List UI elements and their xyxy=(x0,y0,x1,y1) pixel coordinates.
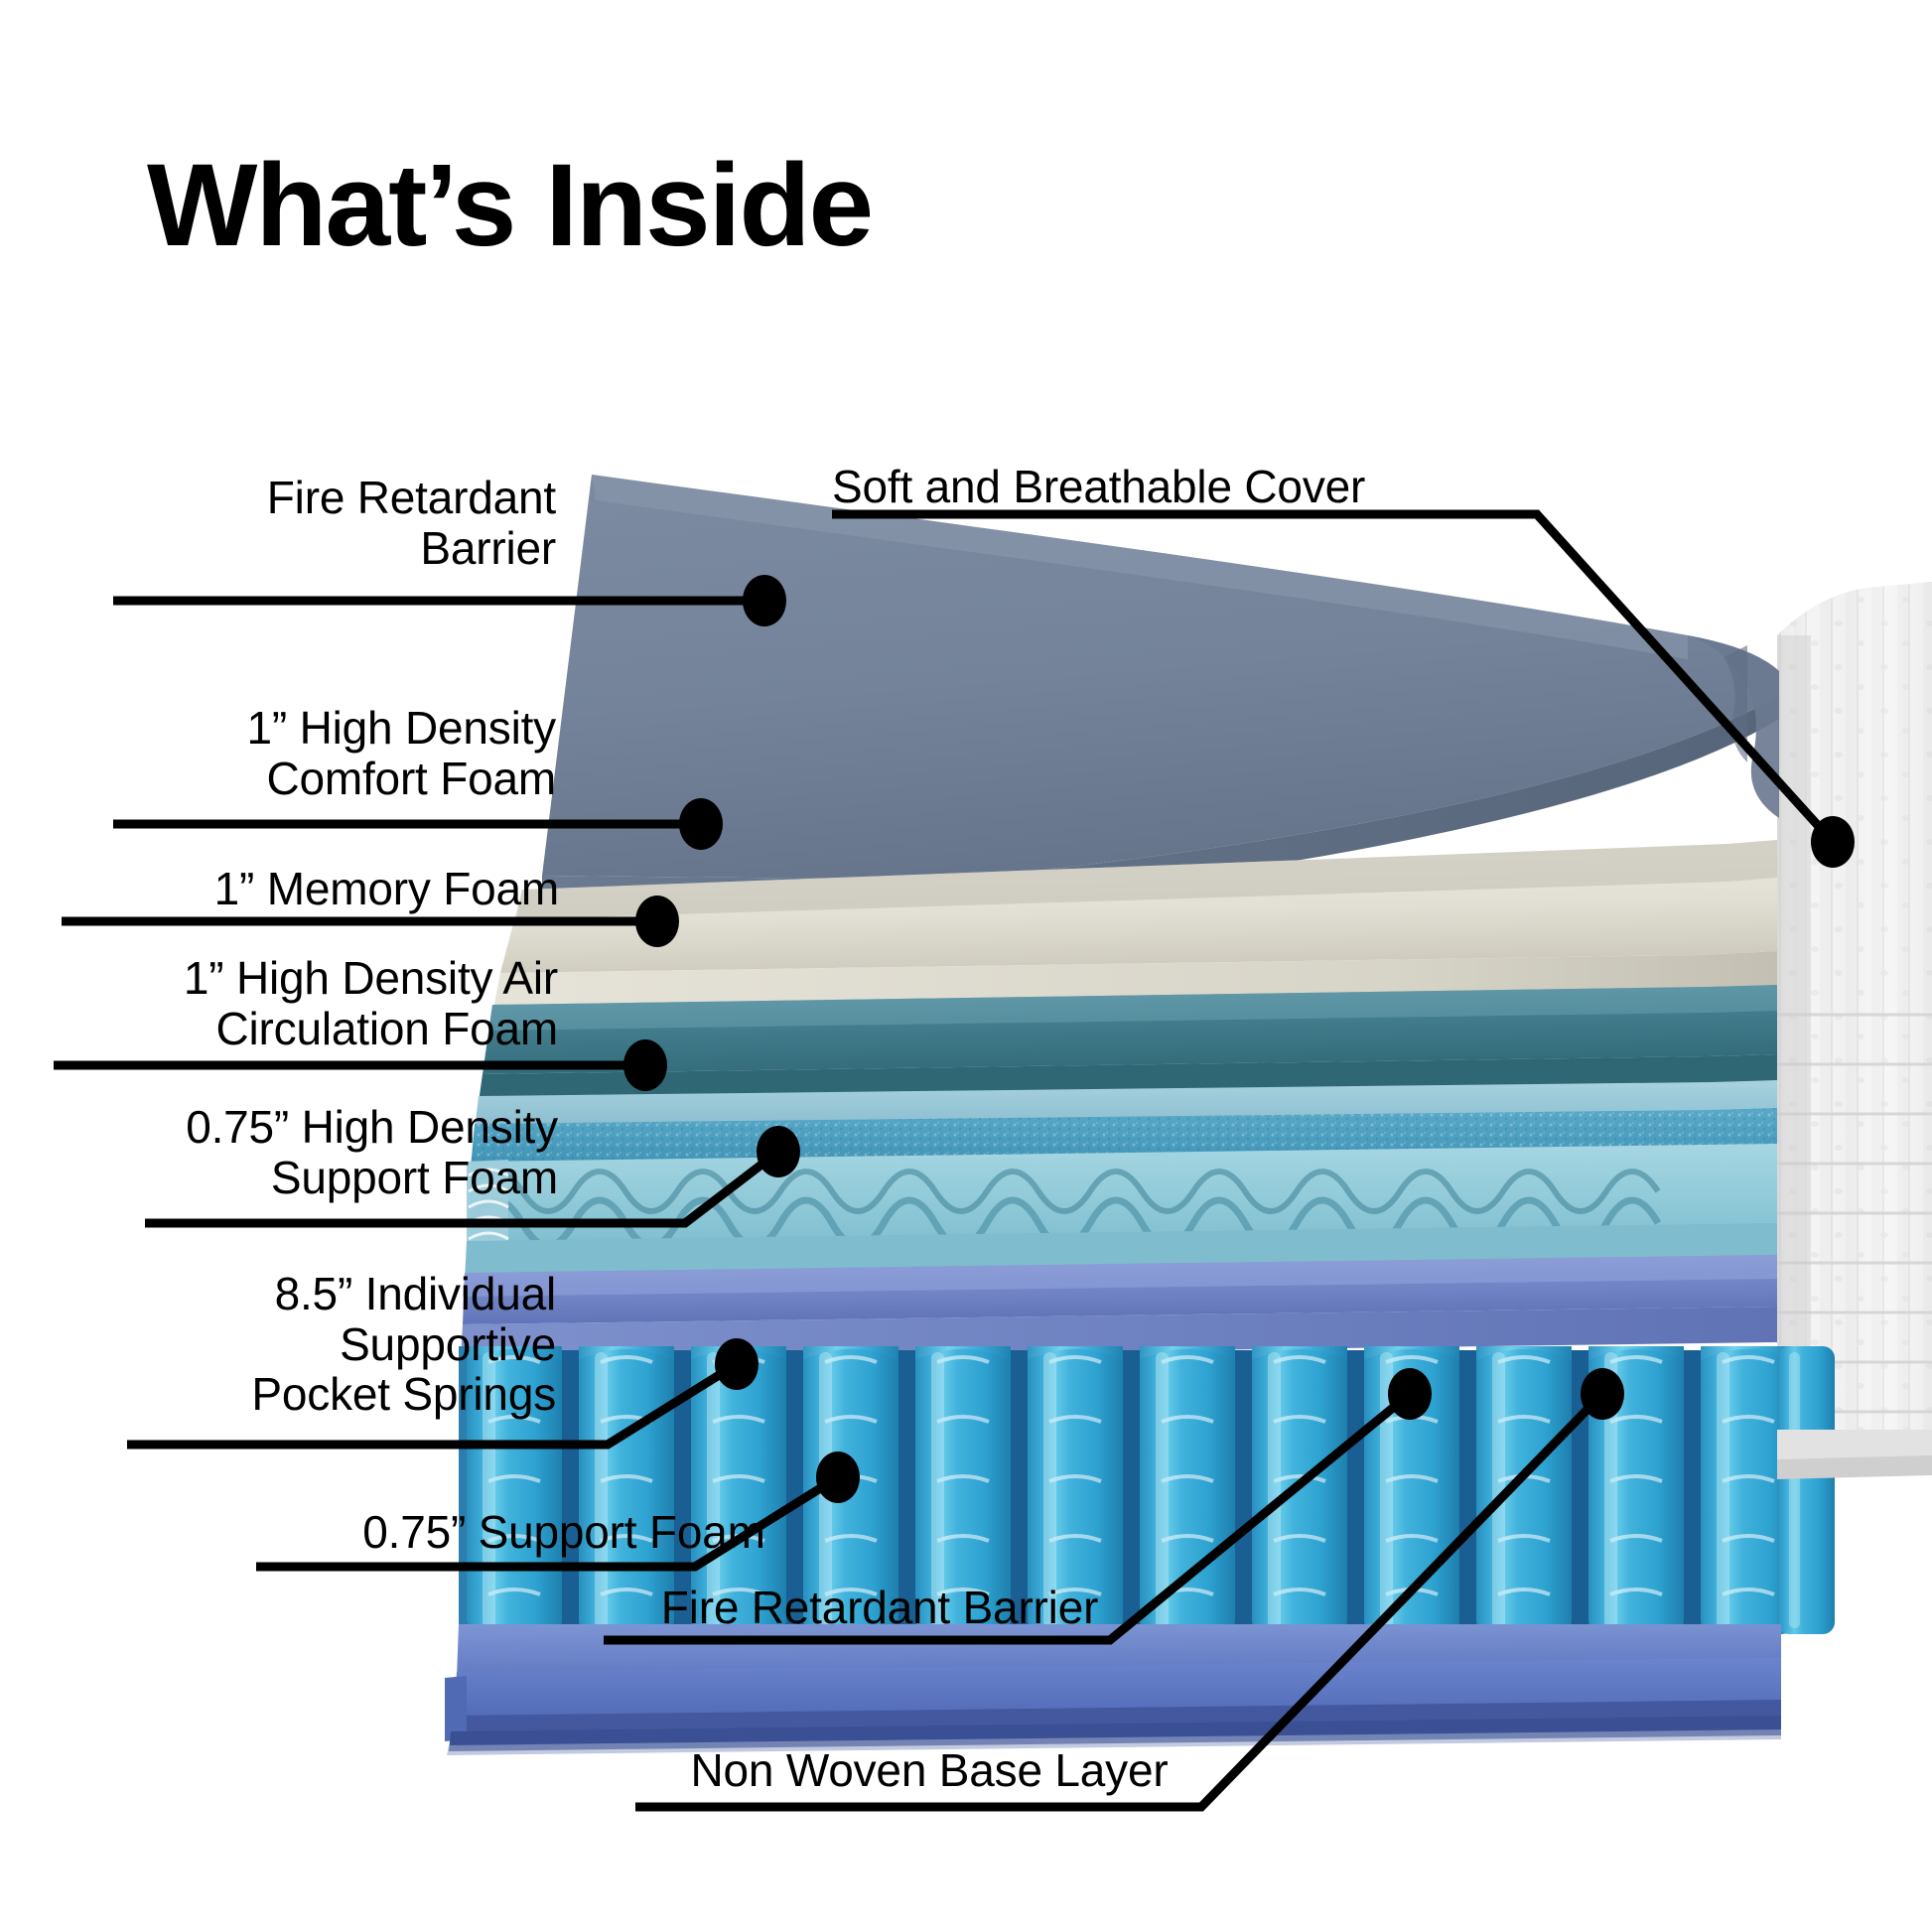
callout-fire-retardant-barrier-top[interactable]: Fire Retardant Barrier xyxy=(109,473,556,573)
callout-label-individual-pocket-springs: 8.5” Individual Supportive Pocket Spring… xyxy=(109,1269,556,1420)
callout-soft-and-breathable-cover[interactable]: Soft and Breathable Cover xyxy=(832,462,1527,512)
callout-individual-pocket-springs[interactable]: 8.5” Individual Supportive Pocket Spring… xyxy=(109,1269,556,1420)
callout-memory-foam[interactable]: 1” Memory Foam xyxy=(107,864,559,914)
callout-air-circulation-foam[interactable]: 1” High Density Air Circulation Foam xyxy=(71,953,558,1053)
callout-label-high-density-comfort-foam: 1” High Density Comfort Foam xyxy=(109,703,556,803)
callout-label-fire-retardant-barrier-top: Fire Retardant Barrier xyxy=(109,473,556,573)
callout-label-soft-and-breathable-cover: Soft and Breathable Cover xyxy=(832,462,1527,512)
callout-high-density-comfort-foam[interactable]: 1” High Density Comfort Foam xyxy=(109,703,556,803)
callout-high-density-support-foam[interactable]: 0.75” High Density Support Foam xyxy=(71,1102,558,1202)
callout-label-non-woven-base-layer: Non Woven Base Layer xyxy=(612,1745,1247,1796)
callout-support-foam-bottom[interactable]: 0.75” Support Foam xyxy=(276,1507,852,1558)
callout-label-air-circulation-foam: 1” High Density Air Circulation Foam xyxy=(71,953,558,1053)
callout-label-memory-foam: 1” Memory Foam xyxy=(107,864,559,914)
callout-label-fire-retardant-barrier-bottom: Fire Retardant Barrier xyxy=(582,1583,1177,1633)
callout-label-support-foam-bottom: 0.75” Support Foam xyxy=(276,1507,852,1558)
high-density-support-foam-layer xyxy=(461,1255,1777,1360)
callout-fire-retardant-barrier-bottom[interactable]: Fire Retardant Barrier xyxy=(582,1583,1177,1633)
air-circulation-foam-layer xyxy=(465,1080,1777,1281)
soft-breathable-cover-layer xyxy=(542,475,1779,905)
callout-label-high-density-support-foam: 0.75” High Density Support Foam xyxy=(71,1102,558,1202)
non-woven-base-layer-panel xyxy=(1777,582,1932,1459)
diagram-canvas: What’s Inside xyxy=(0,0,1932,1932)
callout-non-woven-base-layer[interactable]: Non Woven Base Layer xyxy=(612,1745,1247,1796)
